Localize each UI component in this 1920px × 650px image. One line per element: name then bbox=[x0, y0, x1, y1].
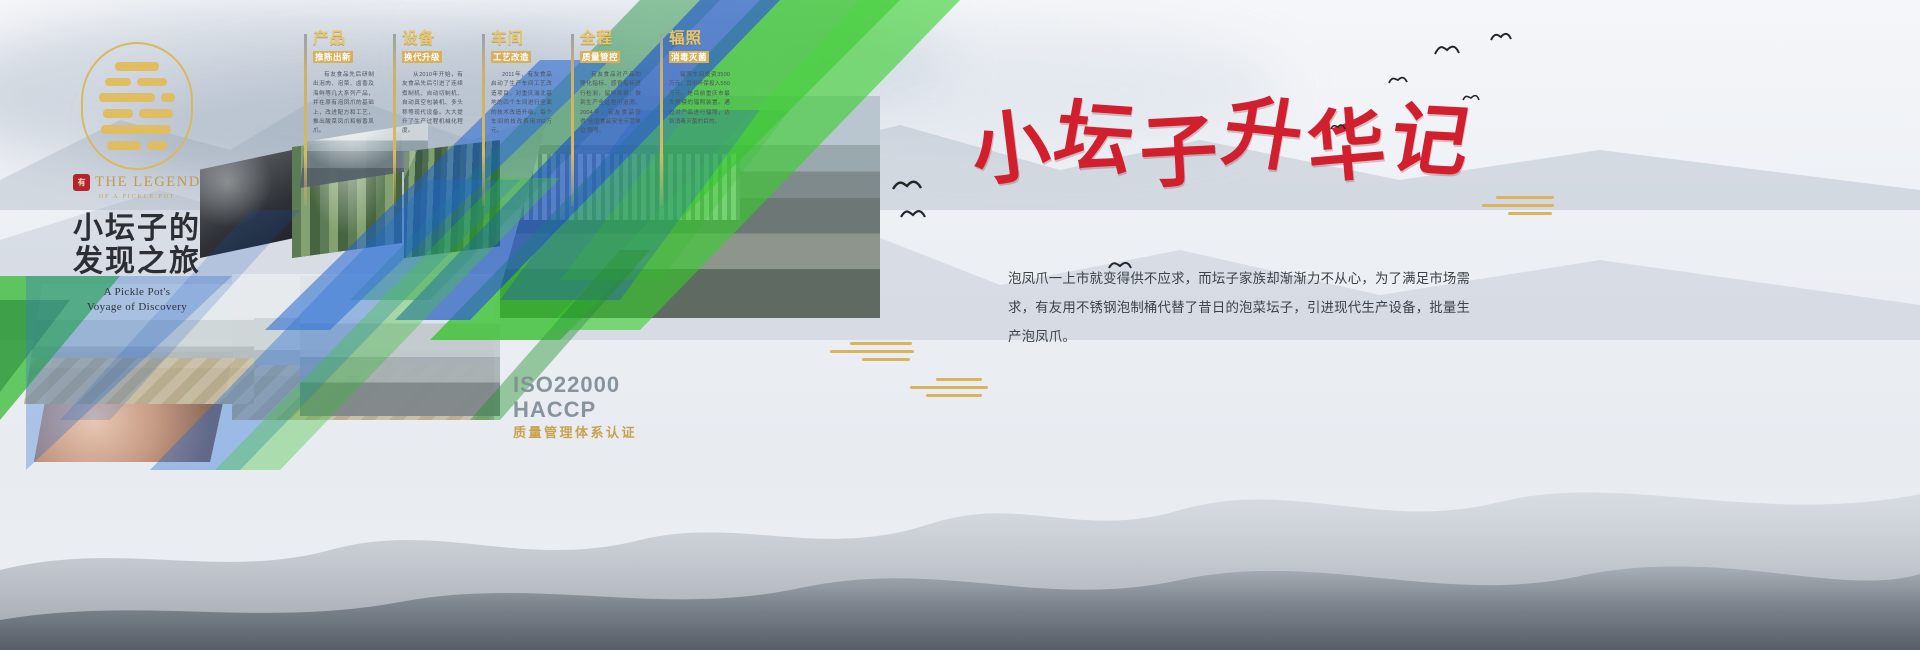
info-column-workshop: 车间 工艺改造 2011年，有友食品启动了生产车间工艺改造项目，对重庆渝北基地的… bbox=[482, 30, 552, 208]
headline-char-2: 坛 bbox=[1049, 98, 1140, 181]
mountain-foreground bbox=[0, 420, 1920, 650]
brand-cn-title-line1: 小坛子的 bbox=[52, 212, 222, 245]
info-column-product: 产品 推陈出新 有友食品先后研制出泡肉、泡菜、卤香及海鲜等几大系列产品，并在原有… bbox=[304, 30, 374, 208]
column-heading: 车间 bbox=[491, 30, 552, 47]
bird-icon-6 bbox=[892, 176, 922, 194]
legend-lockup: 有 THE LEGEND OF A PICKLE POT bbox=[52, 174, 222, 200]
bird-icon-2 bbox=[1490, 30, 1512, 44]
info-column-quality: 全程 质量管控 有友食品对产品的理化指标、感官指标进行检测，留样观察，做到生产全… bbox=[571, 30, 641, 208]
body-paragraph: 泡凤爪一上市就变得供不应求，而坛子家族却渐渐力不从心，为了满足市场需求，有友用不… bbox=[1008, 264, 1476, 351]
column-heading: 产品 bbox=[313, 30, 374, 47]
certification-block: ISO22000 HACCP 质量管理体系认证 bbox=[513, 372, 733, 441]
column-heading: 全程 bbox=[580, 30, 641, 47]
cloud-ornament-right bbox=[1478, 196, 1554, 220]
brand-cn-title: 小坛子的 发现之旅 bbox=[52, 212, 222, 278]
headline-char-5: 华 bbox=[1304, 105, 1389, 190]
column-body: 辐照车间投资3500万元，其中环保投入550万元。是目前重庆市最大规模的辐照装置… bbox=[669, 71, 730, 127]
headline-char-3: 子 bbox=[1138, 112, 1220, 194]
legend-en-text: THE LEGEND bbox=[95, 174, 201, 191]
info-columns: 产品 推陈出新 有友食品先后研制出泡肉、泡菜、卤香及海鲜等几大系列产品，并在原有… bbox=[304, 30, 734, 210]
chop-seal-icon: 有 bbox=[73, 174, 90, 191]
column-subheading: 消毒灭菌 bbox=[669, 51, 709, 63]
column-subheading: 工艺改造 bbox=[491, 51, 531, 63]
cloud-ornament-lower bbox=[906, 378, 990, 402]
column-body: 从2010年开始，有友食品先后引进了连续煮制机、自动切制机、自动真空包装机、多头… bbox=[402, 71, 463, 137]
column-heading: 辐照 bbox=[669, 30, 730, 47]
brand-en-title: A Pickle Pot's Voyage of Discovery bbox=[52, 285, 222, 315]
column-heading: 设备 bbox=[402, 30, 463, 47]
headline-char-4: 升 bbox=[1217, 92, 1308, 177]
bird-icon-7 bbox=[900, 206, 926, 222]
column-subheading: 质量管控 bbox=[580, 51, 620, 63]
cloud-ornament-center bbox=[828, 342, 916, 366]
column-rail bbox=[482, 34, 485, 206]
column-subheading: 换代升级 bbox=[402, 51, 442, 63]
bird-icon-4 bbox=[1462, 92, 1480, 104]
certification-cn-line: 质量管理体系认证 bbox=[513, 425, 733, 441]
headline-char-6: 记 bbox=[1384, 100, 1476, 181]
column-subheading: 推陈出新 bbox=[313, 51, 353, 63]
info-column-equipment: 设备 换代升级 从2010年开始，有友食品先后引进了连续煮制机、自动切制机、自动… bbox=[393, 30, 463, 208]
column-body: 有友食品对产品的理化指标、感官指标进行检测，留样观察，做到生产全过程可追溯。20… bbox=[580, 71, 641, 137]
brand-en-title-line2: Voyage of Discovery bbox=[52, 300, 222, 315]
info-column-irradiation: 辐照 消毒灭菌 辐照车间投资3500万元，其中环保投入550万元。是目前重庆市最… bbox=[660, 30, 730, 208]
pickle-pot-seal-icon bbox=[81, 42, 193, 170]
brand-en-title-line1: A Pickle Pot's bbox=[52, 285, 222, 300]
bird-icon-5 bbox=[1330, 122, 1346, 133]
column-body: 有友食品先后研制出泡肉、泡菜、卤香及海鲜等几大系列产品，并在原有泡凤爪的基础上，… bbox=[313, 71, 374, 137]
poster-canvas: 有 THE LEGEND OF A PICKLE POT 小坛子的 发现之旅 A… bbox=[0, 0, 1920, 650]
certification-haccp-line: HACCP bbox=[513, 397, 733, 422]
column-rail bbox=[571, 34, 574, 206]
legend-sub-text: OF A PICKLE POT bbox=[52, 193, 222, 200]
bird-icon-1 bbox=[1434, 42, 1460, 58]
column-body: 2011年，有友食品启动了生产车间工艺改造项目，对重庆渝北基地的四个车间进行全面… bbox=[491, 71, 552, 137]
bird-icon-8 bbox=[1108, 258, 1132, 273]
headline-char-1: 小 bbox=[967, 105, 1054, 192]
brand-cn-title-line2: 发现之旅 bbox=[52, 245, 222, 278]
column-rail bbox=[393, 34, 396, 206]
certification-iso-line: ISO22000 bbox=[513, 372, 733, 397]
column-rail bbox=[660, 34, 663, 206]
brand-block: 有 THE LEGEND OF A PICKLE POT 小坛子的 发现之旅 A… bbox=[52, 42, 222, 315]
headline-calligraphy: 小 坛 子 升 华 记 bbox=[940, 88, 1500, 198]
bird-icon-3 bbox=[1388, 74, 1408, 87]
column-rail bbox=[304, 34, 307, 206]
